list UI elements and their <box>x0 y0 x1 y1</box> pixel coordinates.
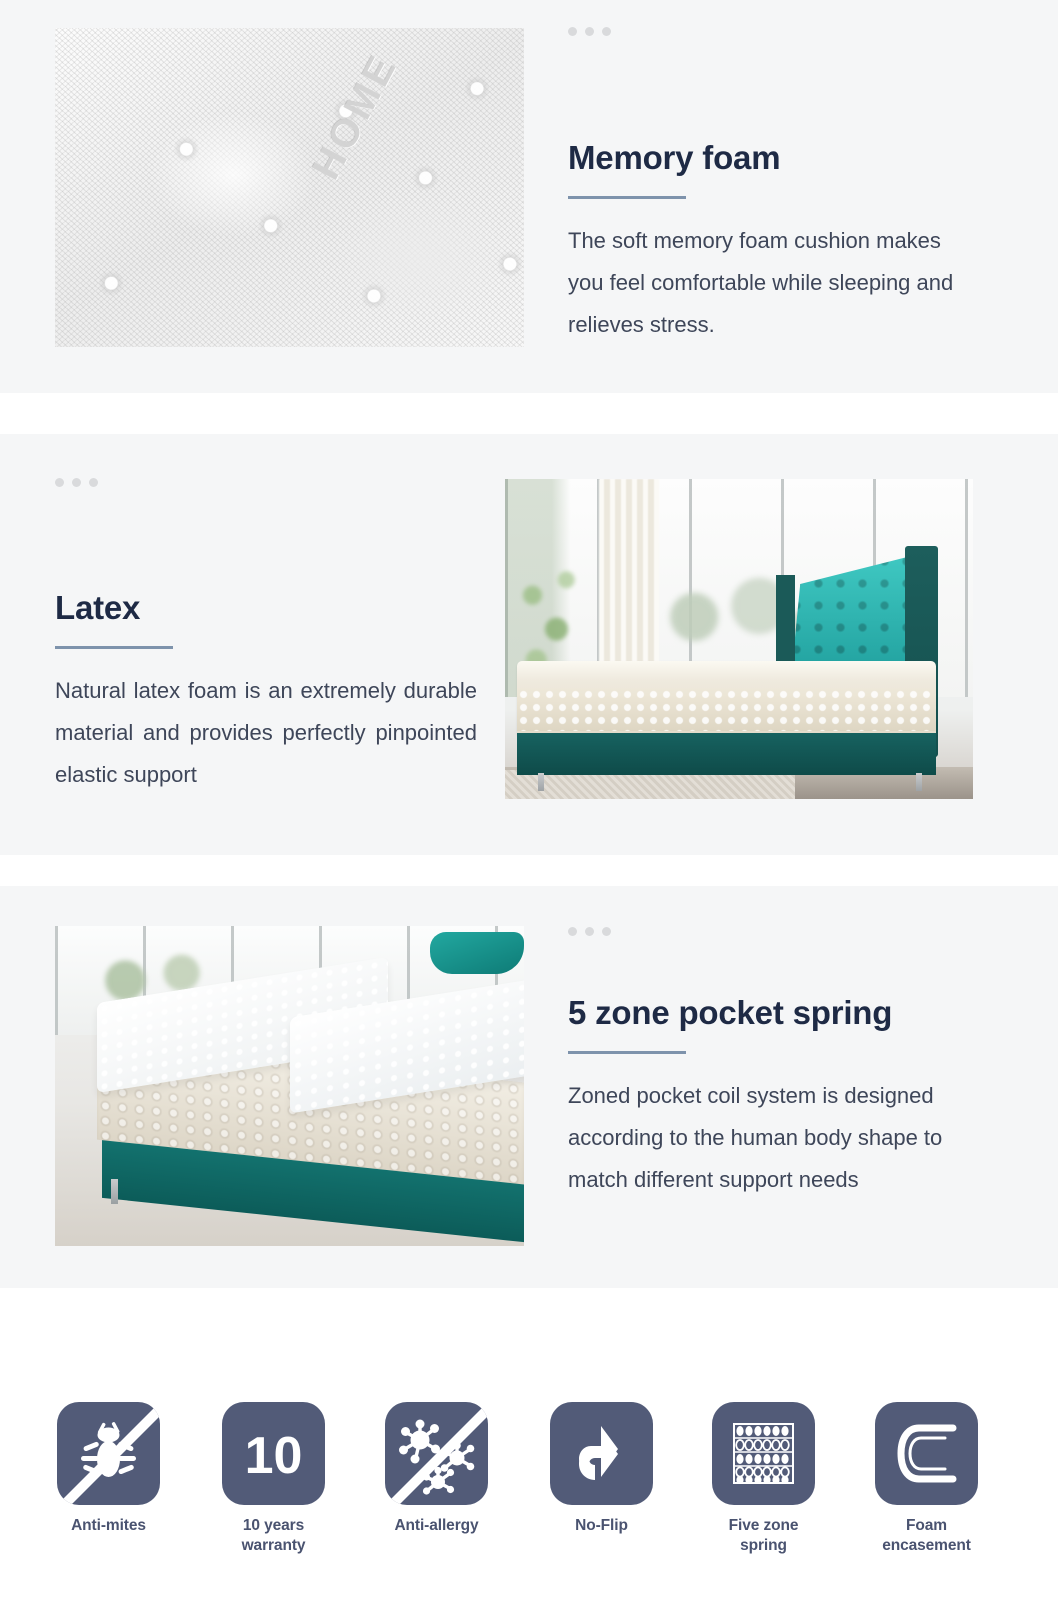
badge-label: Five zone spring <box>712 1516 815 1556</box>
dot-2 <box>585 927 594 936</box>
dots-decoration <box>568 927 611 936</box>
memory-foam-text-block: Memory foam The soft memory foam cushion… <box>568 140 978 346</box>
ten-years-icon: 10 <box>222 1402 325 1505</box>
dot-1 <box>568 927 577 936</box>
pocket-spring-photo <box>55 926 524 1246</box>
product-feature-page: HOME Memory foam The soft memory foam cu… <box>0 0 1058 1599</box>
allergen-slash-icon <box>385 1402 488 1505</box>
svg-text:10: 10 <box>245 1427 303 1485</box>
feature-section-pocket-spring: 5 zone pocket spring Zoned pocket coil s… <box>0 886 1058 1288</box>
dot-3 <box>602 27 611 36</box>
badge-label: Anti-mites <box>57 1516 160 1536</box>
dot-2 <box>72 478 81 487</box>
badge-five-zone-spring[interactable]: Five zone spring <box>712 1402 815 1556</box>
dots-decoration <box>568 27 611 36</box>
dots-decoration <box>55 478 98 487</box>
pocket-spring-body: Zoned pocket coil system is designed acc… <box>568 1075 968 1201</box>
memory-foam-photo: HOME <box>55 28 524 347</box>
latex-body: Natural latex foam is an extremely durab… <box>55 670 477 796</box>
memory-foam-heading: Memory foam <box>568 140 978 176</box>
c-bracket-icon <box>875 1402 978 1505</box>
badge-anti-mites[interactable]: Anti-mites <box>57 1402 160 1536</box>
badge-anti-allergy[interactable]: Anti-allergy <box>385 1402 488 1536</box>
dot-1 <box>568 27 577 36</box>
badge-warranty[interactable]: 10 10 years warranty <box>222 1402 325 1556</box>
heading-rule <box>55 646 173 649</box>
badge-label: 10 years warranty <box>222 1516 325 1556</box>
dot-1 <box>55 478 64 487</box>
heading-rule <box>568 196 686 199</box>
dot-3 <box>89 478 98 487</box>
latex-photo <box>505 479 973 799</box>
badge-label: No-Flip <box>550 1516 653 1536</box>
pocket-spring-text-block: 5 zone pocket spring Zoned pocket coil s… <box>568 995 968 1201</box>
badge-label: Anti-allergy <box>385 1516 488 1536</box>
badge-label: Foam encasement <box>875 1516 978 1556</box>
pocket-spring-heading: 5 zone pocket spring <box>568 995 968 1031</box>
dot-3 <box>602 927 611 936</box>
latex-heading: Latex <box>55 590 477 626</box>
feature-section-latex: Latex Natural latex foam is an extremely… <box>0 434 1058 855</box>
rotate-arrows-icon <box>550 1402 653 1505</box>
coil-grid-icon <box>712 1402 815 1505</box>
memory-foam-body: The soft memory foam cushion makes you f… <box>568 220 978 346</box>
feature-badges-row: Anti-mites 10 10 years warranty <box>0 1330 1058 1575</box>
bug-slash-icon <box>57 1402 160 1505</box>
badge-foam-encasement[interactable]: Foam encasement <box>875 1402 978 1556</box>
feature-section-memory-foam: HOME Memory foam The soft memory foam cu… <box>0 0 1058 393</box>
dot-2 <box>585 27 594 36</box>
heading-rule <box>568 1051 686 1054</box>
badge-no-flip[interactable]: No-Flip <box>550 1402 653 1536</box>
latex-text-block: Latex Natural latex foam is an extremely… <box>55 590 477 796</box>
